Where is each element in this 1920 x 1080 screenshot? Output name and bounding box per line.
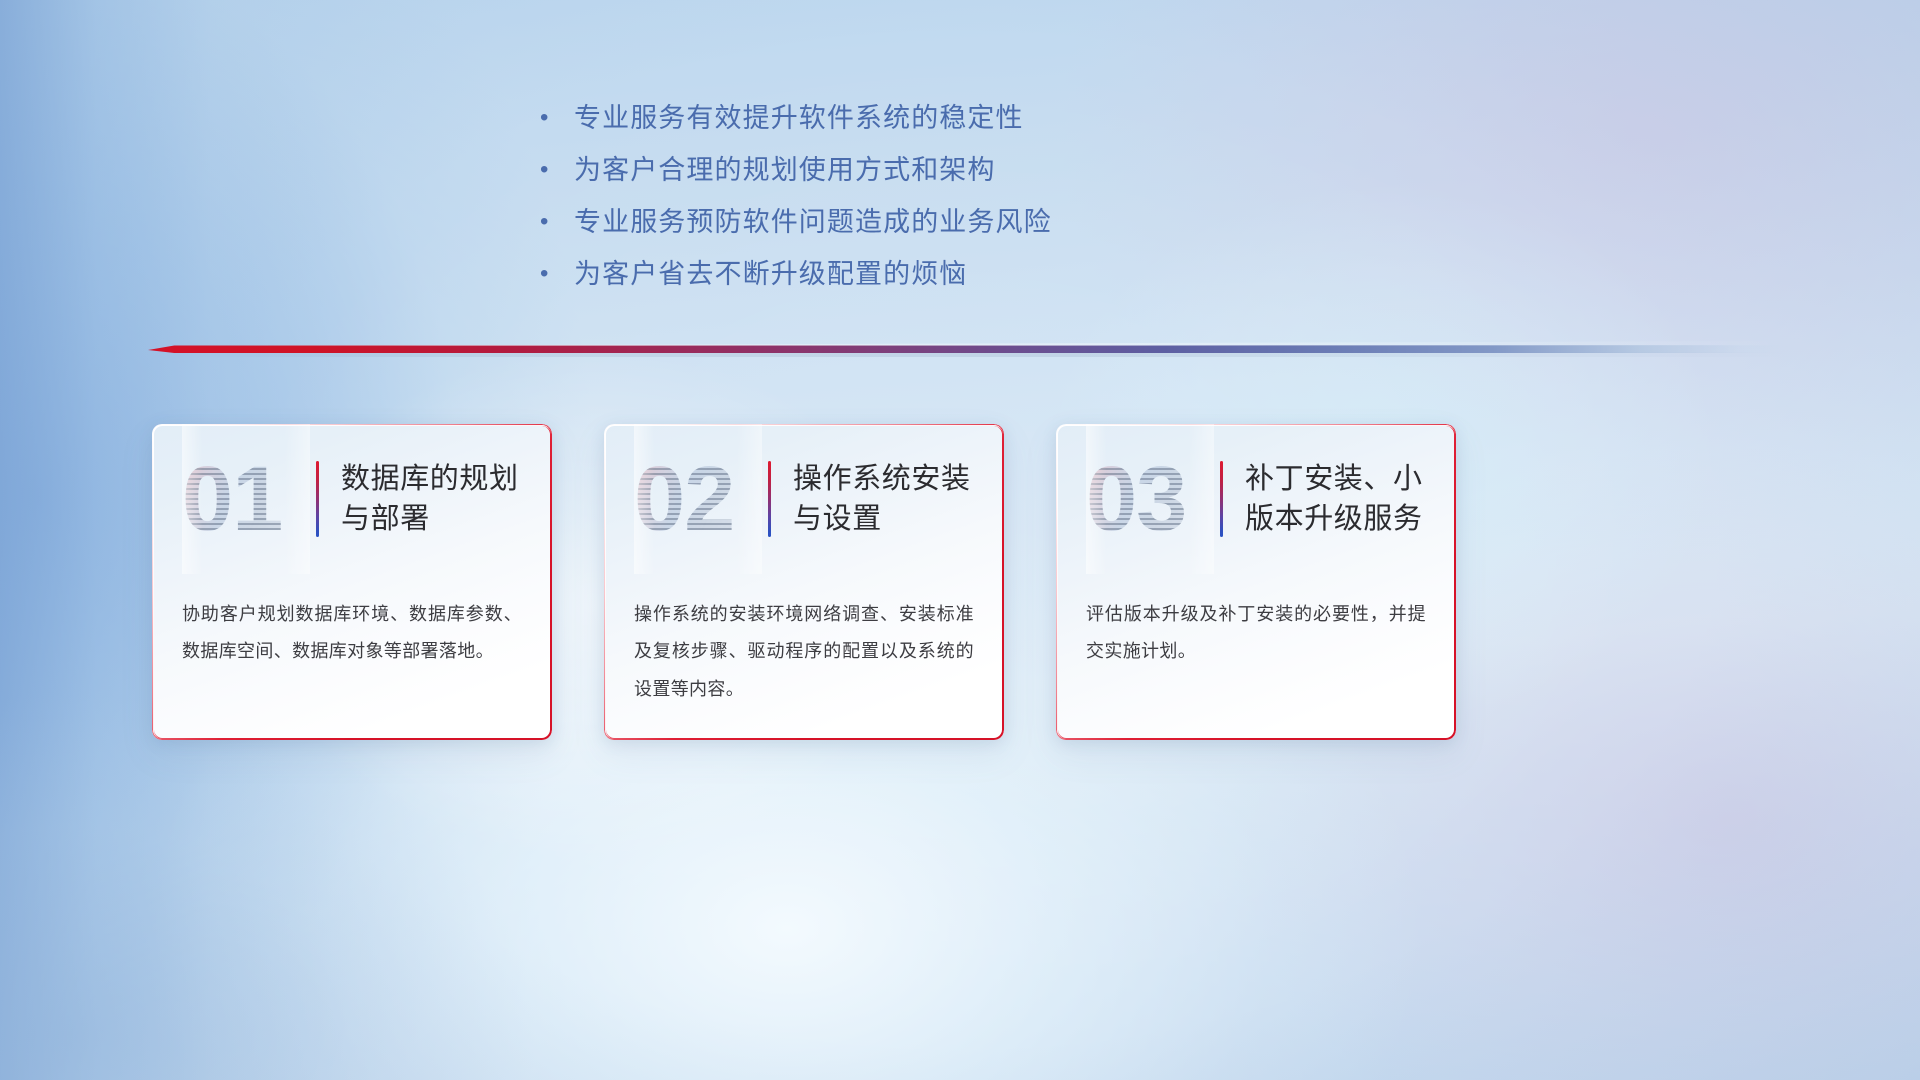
- section-divider: [148, 340, 1788, 362]
- slide-canvas: • 专业服务有效提升软件系统的稳定性 • 为客户合理的规划使用方式和架构 • 专…: [0, 0, 1920, 1080]
- divider-highlight: [148, 341, 1788, 346]
- service-card-group: 01 数据库的规划与部署 协助客户规划数据库环境、数据库参数、数据库空间、数据库…: [152, 424, 1772, 740]
- card-description: 协助客户规划数据库环境、数据库参数、数据库空间、数据库对象等部署落地。: [152, 574, 552, 671]
- bullet-dot-icon: •: [540, 248, 574, 300]
- card-title: 补丁安装、小版本升级服务: [1245, 459, 1430, 539]
- service-card-01[interactable]: 01 数据库的规划与部署 协助客户规划数据库环境、数据库参数、数据库空间、数据库…: [152, 424, 552, 740]
- card-number: 03: [1086, 453, 1214, 545]
- bullet-dot-icon: •: [540, 92, 574, 144]
- card-description: 操作系统的安装环境网络调查、安装标准及复核步骤、驱动程序的配置以及系统的设置等内…: [604, 574, 1004, 708]
- bullet-text: 为客户省去不断升级配置的烦恼: [574, 248, 967, 300]
- card-description: 评估版本升级及补丁安装的必要性，并提交实施计划。: [1056, 574, 1456, 671]
- service-card-03[interactable]: 03 补丁安装、小版本升级服务 评估版本升级及补丁安装的必要性，并提交实施计划。: [1056, 424, 1456, 740]
- card-header: 02 操作系统安装与设置: [604, 424, 1004, 574]
- bullet-dot-icon: •: [540, 144, 574, 196]
- list-item: • 专业服务有效提升软件系统的稳定性: [540, 92, 1360, 144]
- benefits-bullet-list: • 专业服务有效提升软件系统的稳定性 • 为客户合理的规划使用方式和架构 • 专…: [540, 92, 1360, 300]
- service-card-02[interactable]: 02 操作系统安装与设置 操作系统的安装环境网络调查、安装标准及复核步骤、驱动程…: [604, 424, 1004, 740]
- bullet-dot-icon: •: [540, 196, 574, 248]
- card-title: 数据库的规划与部署: [341, 459, 526, 539]
- list-item: • 为客户合理的规划使用方式和架构: [540, 144, 1360, 196]
- bullet-text: 专业服务预防软件问题造成的业务风险: [574, 196, 1052, 248]
- bullet-text: 为客户合理的规划使用方式和架构: [574, 144, 996, 196]
- card-accent-rule: [316, 461, 319, 537]
- card-title: 操作系统安装与设置: [793, 459, 978, 539]
- divider-stroke: [148, 345, 1788, 353]
- card-accent-rule: [768, 461, 771, 537]
- bullet-text: 专业服务有效提升软件系统的稳定性: [574, 92, 1024, 144]
- card-accent-rule: [1220, 461, 1223, 537]
- card-header: 01 数据库的规划与部署: [152, 424, 552, 574]
- card-number: 02: [634, 453, 762, 545]
- card-header: 03 补丁安装、小版本升级服务: [1056, 424, 1456, 574]
- card-number: 01: [182, 453, 310, 545]
- list-item: • 专业服务预防软件问题造成的业务风险: [540, 196, 1360, 248]
- list-item: • 为客户省去不断升级配置的烦恼: [540, 248, 1360, 300]
